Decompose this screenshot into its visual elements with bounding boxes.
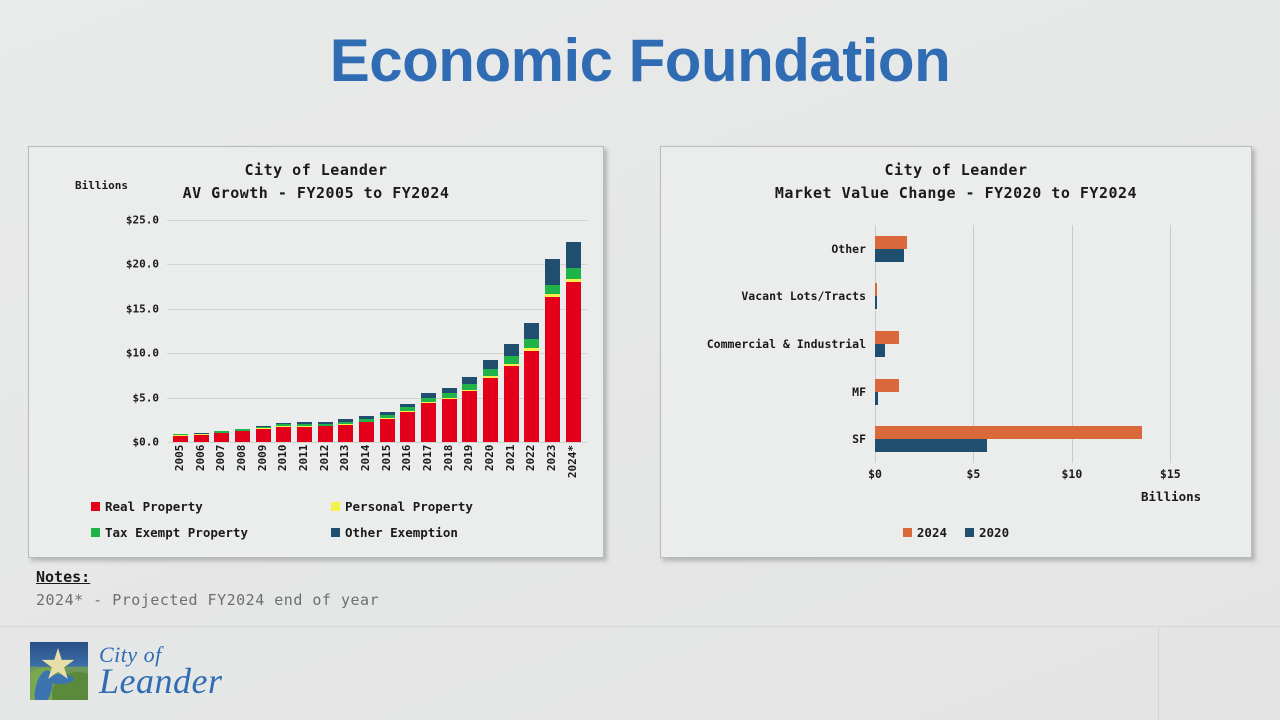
y-axis-tick-label: $10.0	[126, 347, 159, 360]
legend-item[interactable]: 2024	[903, 525, 947, 540]
legend-market-value: 20242020	[661, 525, 1251, 540]
stacked-column	[173, 220, 188, 442]
bar-group-row: Commercial & Industrial	[875, 327, 1190, 361]
bar	[875, 296, 877, 309]
chart-title-market-value: City of Leander	[661, 161, 1251, 179]
stacked-column	[400, 220, 415, 442]
plot-area-av-growth: $0.0$5.0$10.0$15.0$20.0$25.0	[167, 220, 587, 442]
x-axis-tick-label: 2005	[173, 445, 188, 478]
legend-av-growth: Real PropertyPersonal PropertyTax Exempt…	[91, 499, 571, 551]
bar	[875, 392, 878, 405]
bar-group-row: SF	[875, 422, 1190, 456]
chart-title-av-growth: City of Leander	[29, 161, 603, 179]
legend-label: Personal Property	[345, 499, 473, 514]
bar-segment	[566, 242, 581, 268]
x-axis-units-label: Billions	[1141, 489, 1201, 504]
category-label: SF	[852, 432, 866, 446]
bar	[875, 283, 877, 296]
footer-divider	[0, 626, 1280, 627]
city-of-leander-logo: City of Leander	[30, 642, 223, 700]
category-label: Commercial & Industrial	[707, 337, 866, 351]
y-axis-tick-label: $5.0	[133, 391, 160, 404]
x-axis-tick-label: 2017	[421, 445, 436, 478]
bar-segment	[483, 360, 498, 370]
x-axis-tick-label: 2009	[256, 445, 271, 478]
logo-river-bend	[44, 674, 74, 684]
y-axis-units-label: Billions	[75, 179, 128, 192]
bar	[875, 236, 907, 249]
chart-panel-av-growth: City of Leander AV Growth - FY2005 to FY…	[28, 146, 604, 558]
legend-item[interactable]: Tax Exempt Property	[91, 525, 331, 540]
stacked-column	[566, 220, 581, 442]
footer-vertical-divider	[1158, 627, 1159, 720]
x-axis-tick-label: 2010	[276, 445, 291, 478]
x-axis-tick-label: 2011	[297, 445, 312, 478]
legend-swatch-icon	[331, 528, 340, 537]
legend-label: 2024	[917, 525, 947, 540]
legend-swatch-icon	[965, 528, 974, 537]
legend-swatch-icon	[91, 528, 100, 537]
stacked-column	[318, 220, 333, 442]
bar-segment	[318, 426, 333, 442]
bar-segment	[545, 259, 560, 285]
bar-segment	[173, 436, 188, 442]
bar-segment	[483, 378, 498, 442]
chart-panel-market-value: City of Leander Market Value Change - FY…	[660, 146, 1252, 558]
x-axis-tick-label: 2014	[359, 445, 374, 478]
bar-segment	[380, 419, 395, 442]
bar-segment	[442, 399, 457, 442]
legend-item[interactable]: Personal Property	[331, 499, 571, 514]
legend-item[interactable]: 2020	[965, 525, 1009, 540]
logo-wordmark: City of Leander	[99, 644, 223, 699]
bar-segment	[297, 427, 312, 442]
x-axis-tick-label: $15	[1160, 467, 1181, 481]
x-axis-tick-label: $10	[1061, 467, 1082, 481]
legend-swatch-icon	[91, 502, 100, 511]
bar-segment	[566, 282, 581, 442]
bar-segment	[524, 339, 539, 347]
stacked-column	[504, 220, 519, 442]
legend-item[interactable]: Other Exemption	[331, 525, 571, 540]
legend-item[interactable]: Real Property	[91, 499, 331, 514]
notes-text: 2024* - Projected FY2024 end of year	[36, 591, 379, 609]
stacked-column	[256, 220, 271, 442]
bar-group-row: Vacant Lots/Tracts	[875, 279, 1190, 313]
legend-label: Real Property	[105, 499, 203, 514]
stacked-column	[338, 220, 353, 442]
logo-leander-text: Leander	[99, 663, 223, 699]
x-axis-tick-label: 2007	[214, 445, 229, 478]
x-axis-tick-label: 2019	[462, 445, 477, 478]
bar-segment	[400, 412, 415, 442]
bar-segment	[276, 427, 291, 442]
category-label: Other	[831, 242, 866, 256]
bar	[875, 344, 885, 357]
x-axis-tick-label: 2016	[400, 445, 415, 478]
x-axis-tick-label: 2021	[504, 445, 519, 478]
stacked-column	[359, 220, 374, 442]
x-axis-ticks-av-growth: 2005200620072008200920102011201220132014…	[167, 445, 587, 478]
bar-segment	[462, 391, 477, 442]
bar-segment	[524, 323, 539, 339]
stacked-column	[276, 220, 291, 442]
bar-segment	[566, 268, 581, 279]
stacked-column	[524, 220, 539, 442]
bar-segment	[421, 403, 436, 442]
page-title: Economic Foundation	[0, 26, 1280, 95]
bar-segment	[483, 369, 498, 376]
stacked-column	[421, 220, 436, 442]
bar-segment	[462, 377, 477, 385]
stacked-bar-series	[167, 220, 587, 442]
x-axis-tick-label: 2006	[194, 445, 209, 478]
y-axis-tick-label: $15.0	[126, 302, 159, 315]
y-axis-tick-label: $25.0	[126, 214, 159, 227]
x-axis-tick-label: 2020	[483, 445, 498, 478]
legend-label: 2020	[979, 525, 1009, 540]
stacked-column	[297, 220, 312, 442]
bar-segment	[256, 429, 271, 442]
y-axis-tick-label: $0.0	[133, 436, 160, 449]
stacked-column	[483, 220, 498, 442]
bar-segment	[338, 425, 353, 442]
stacked-column	[545, 220, 560, 442]
bar-segment	[545, 285, 560, 294]
x-axis-tick-label: 2018	[442, 445, 457, 478]
bar-segment	[214, 433, 229, 442]
chart-subtitle-market-value: Market Value Change - FY2020 to FY2024	[661, 184, 1251, 202]
bar	[875, 331, 899, 344]
bar-segment	[235, 431, 250, 442]
bar-group-row: Other	[875, 232, 1190, 266]
bar-segment	[504, 366, 519, 442]
bar-segment	[504, 344, 519, 356]
category-label: Vacant Lots/Tracts	[741, 289, 866, 303]
bar	[875, 439, 987, 452]
x-axis-tick-label: 2013	[338, 445, 353, 478]
bar-segment	[194, 435, 209, 442]
category-label: MF	[852, 385, 866, 399]
bar-segment	[504, 356, 519, 364]
bar	[875, 379, 899, 392]
bar	[875, 426, 1142, 439]
logo-landscape-icon	[30, 642, 88, 700]
x-axis-tick-label: 2024*	[566, 445, 581, 478]
legend-swatch-icon	[331, 502, 340, 511]
gridline	[167, 442, 587, 443]
plot-area-market-value: OtherVacant Lots/TractsCommercial & Indu…	[875, 225, 1190, 463]
notes-heading: Notes:	[36, 568, 379, 586]
stacked-column	[442, 220, 457, 442]
y-axis-tick-label: $20.0	[126, 258, 159, 271]
x-axis-tick-label: $0	[868, 467, 882, 481]
notes-block: Notes: 2024* - Projected FY2024 end of y…	[36, 568, 379, 609]
x-axis-tick-label: 2012	[318, 445, 333, 478]
bar-group-row: MF	[875, 375, 1190, 409]
stacked-column	[235, 220, 250, 442]
grouped-bar-series: OtherVacant Lots/TractsCommercial & Indu…	[875, 225, 1190, 463]
x-axis-ticks-market-value: $0$5$10$15	[875, 467, 1190, 485]
legend-label: Other Exemption	[345, 525, 458, 540]
stacked-column	[214, 220, 229, 442]
legend-label: Tax Exempt Property	[105, 525, 248, 540]
x-axis-tick-label: $5	[967, 467, 981, 481]
x-axis-tick-label: 2015	[380, 445, 395, 478]
legend-swatch-icon	[903, 528, 912, 537]
x-axis-tick-label: 2008	[235, 445, 250, 478]
x-axis-tick-label: 2023	[545, 445, 560, 478]
stacked-column	[462, 220, 477, 442]
stacked-column	[380, 220, 395, 442]
bar-segment	[359, 422, 374, 442]
bar-segment	[524, 351, 539, 442]
x-axis-tick-label: 2022	[524, 445, 539, 478]
stacked-column	[194, 220, 209, 442]
bar-segment	[545, 297, 560, 442]
bar	[875, 249, 904, 262]
